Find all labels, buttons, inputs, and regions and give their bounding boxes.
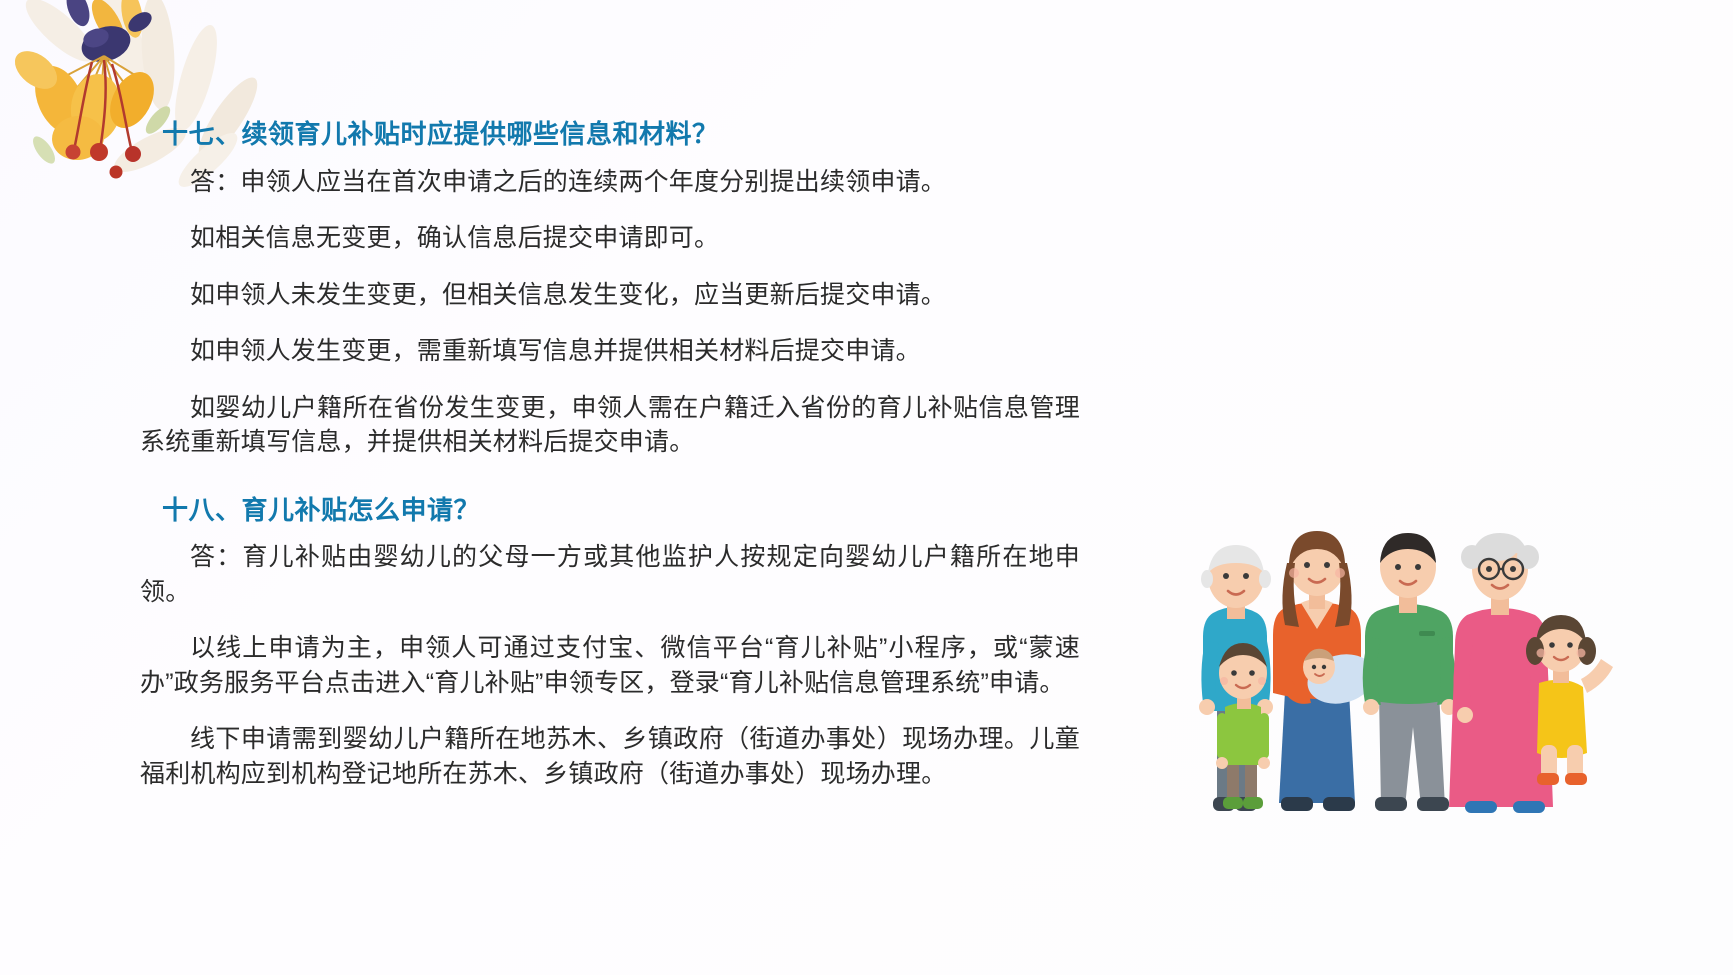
faq-content: 十七、续领育儿补贴时应提供哪些信息和材料？ 答：申领人应当在首次申请之后的连续两…: [140, 118, 1080, 813]
answer-paragraph: 如申领人发生变更，需重新填写信息并提供相关材料后提交申请。: [140, 334, 1080, 369]
flower-stems: [58, 56, 146, 110]
answer-paragraph: 如相关信息无变更，确认信息后提交申请即可。: [140, 221, 1080, 256]
answer-paragraph: 如婴幼儿户籍所在省份发生变更，申领人需在户籍迁入省份的育儿补贴信息管理系统重新填…: [140, 391, 1080, 460]
answer-paragraph: 以线上申请为主，申领人可通过支付宝、微信平台“育儿补贴”小程序，或“蒙速办”政务…: [140, 631, 1080, 700]
baby-figure: [1302, 647, 1380, 710]
boy-figure: [1216, 643, 1270, 809]
answer-paragraph: 答：育儿补贴由婴幼儿的父母一方或其他监护人按规定向婴幼儿户籍所在地申领。: [140, 540, 1080, 609]
question-heading-17: 十七、续领育儿补贴时应提供哪些信息和材料？: [140, 118, 1080, 151]
grandfather-figure: [1199, 545, 1273, 811]
grandmother-figure: [1449, 533, 1553, 813]
answer-paragraph: 如申领人未发生变更，但相关信息发生变化，应当更新后提交申请。: [140, 278, 1080, 313]
document-page: 十七、续领育儿补贴时应提供哪些信息和材料？ 答：申领人应当在首次申请之后的连续两…: [0, 0, 1733, 975]
answer-paragraph: 线下申请需到婴幼儿户籍所在地苏木、乡镇政府（街道办事处）现场办理。儿童福利机构应…: [140, 722, 1080, 791]
eyeglasses: [1479, 559, 1523, 579]
yellow-petals-upper: [85, 0, 146, 50]
mother-figure: [1273, 531, 1362, 811]
answer-paragraph: 答：申领人应当在首次申请之后的连续两个年度分别提出续领申请。: [140, 165, 1080, 200]
purple-flower-head: [62, 0, 155, 68]
family-group-illustration: [1183, 445, 1623, 865]
father-figure: [1363, 533, 1457, 811]
berry-cluster: [66, 60, 142, 179]
question-heading-18: 十八、育儿补贴怎么申请？: [140, 494, 1080, 527]
girl-figure: [1526, 615, 1613, 785]
